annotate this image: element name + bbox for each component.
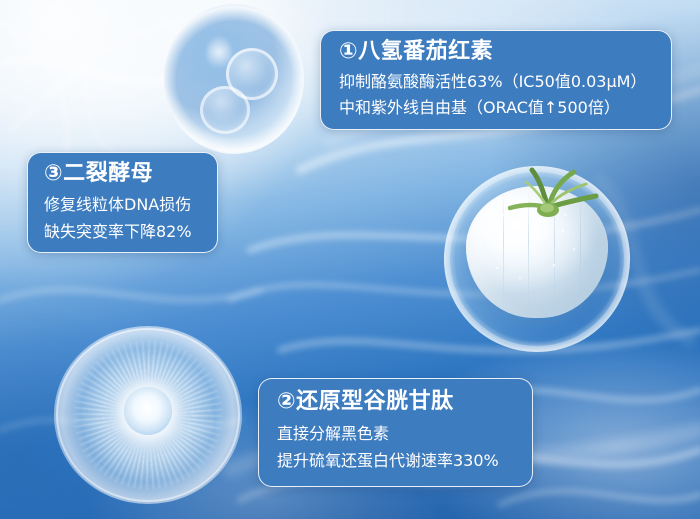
radiant-water-bubble-icon <box>54 326 242 504</box>
panel-line: 缺失突变率下降82% <box>44 221 217 243</box>
bubble-inner-sphere-icon <box>226 48 278 100</box>
panel-line: 中和紫外线自由基（ORAC值↑500倍） <box>339 97 671 119</box>
bubble-rim-icon <box>56 328 240 502</box>
panel-line: 修复线粒体DNA损伤 <box>44 194 217 216</box>
info-panel-bifida-ferment[interactable]: ③二裂酵母 修复线粒体DNA损伤 缺失突变率下降82% <box>27 152 218 253</box>
panel-title: ③二裂酵母 <box>44 162 217 186</box>
bubble-core-icon <box>124 387 172 435</box>
panel-line: 直接分解黑色素 <box>277 423 532 445</box>
tomato-stem-icon <box>504 164 608 220</box>
infographic-canvas: ①八氢番茄红素 抑制酪氨酸酶活性63%（IC50值0.03μM） 中和紫外线自由… <box>0 0 700 519</box>
panel-title: ②还原型谷胱甘肽 <box>277 390 532 414</box>
panel-line: 提升硫氧还蛋白代谢速率330% <box>277 450 532 472</box>
bubble-inner-sphere-icon <box>200 86 250 134</box>
tomato-body-icon <box>466 186 608 318</box>
bubble-highlight-icon <box>206 36 232 76</box>
tomato-dew-icon <box>466 186 608 318</box>
info-panel-glutathione[interactable]: ②还原型谷胱甘肽 直接分解黑色素 提升硫氧还蛋白代谢速率330% <box>258 378 533 487</box>
info-panel-phytoene[interactable]: ①八氢番茄红素 抑制酪氨酸酶活性63%（IC50值0.03μM） 中和紫外线自由… <box>320 30 672 130</box>
bubble-rays-icon <box>73 340 223 490</box>
water-bubble-icon <box>164 4 304 154</box>
white-tomato-in-water-sphere-icon <box>444 166 630 352</box>
water-sphere-rim-icon <box>444 166 630 352</box>
panel-line: 抑制酪氨酸酶活性63%（IC50值0.03μM） <box>339 71 671 93</box>
panel-title: ①八氢番茄红素 <box>339 40 671 64</box>
